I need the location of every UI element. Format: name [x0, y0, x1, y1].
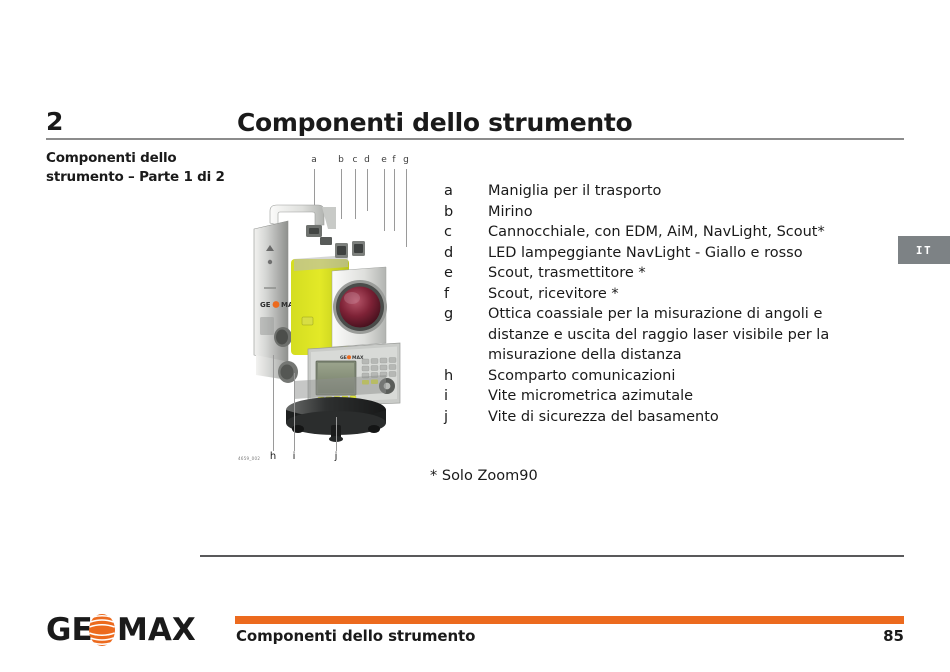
page-title: Componenti dello strumento	[237, 108, 632, 137]
callout-labels-bottom: h i j	[236, 451, 416, 465]
callout-label-g: g	[403, 155, 409, 165]
legend-text-f: Scout, ricevitore *	[488, 284, 874, 305]
legend-item-j: j Vite di sicurezza del basamento	[444, 407, 874, 428]
leader-line-h	[273, 355, 274, 451]
legend-item-b: b Mirino	[444, 202, 874, 223]
instrument-figure: a b c d e f g	[236, 155, 416, 470]
callout-labels-top: a b c d e f g	[236, 155, 416, 167]
logo-text-left: GE	[46, 612, 93, 648]
legend-key-c: c	[444, 222, 488, 243]
legend-text-i: Vite micrometrica azimutale	[488, 386, 874, 407]
callout-label-e: e	[381, 155, 387, 165]
svg-text:GE: GE	[260, 301, 271, 309]
legend-key-i: i	[444, 386, 488, 407]
legend-key-g: g	[444, 304, 488, 325]
callout-label-h: h	[270, 451, 276, 462]
legend-key-f: f	[444, 284, 488, 305]
legend-key-j: j	[444, 407, 488, 428]
content-divider	[200, 555, 904, 557]
legend-key-a: a	[444, 181, 488, 202]
callout-label-f: f	[392, 155, 395, 165]
legend-text-c: Cannocchiale, con EDM, AiM, NavLight, Sc…	[488, 222, 874, 243]
geomax-logo: GE MAX	[46, 610, 218, 650]
total-station-image: GE MAX GE	[236, 167, 416, 450]
legend-text-a: Maniglia per il trasporto	[488, 181, 874, 202]
legend-key-e: e	[444, 263, 488, 284]
leader-line-j	[336, 417, 337, 451]
language-tab-label: IT	[916, 244, 932, 257]
language-tab-it: IT	[898, 236, 950, 264]
legend-item-c: c Cannocchiale, con EDM, AiM, NavLight, …	[444, 222, 874, 243]
legend-item-h: h Scomparto comunicazioni	[444, 366, 874, 387]
callout-label-i: i	[293, 451, 296, 462]
legend-list: a Maniglia per il trasporto b Mirino c C…	[444, 181, 874, 427]
logo-text-right: MAX	[117, 612, 196, 648]
footer-accent-bar	[235, 616, 904, 624]
leader-line-i	[294, 373, 295, 451]
page-number: 85	[866, 627, 904, 645]
svg-text:GE: GE	[340, 355, 347, 361]
callout-label-a: a	[311, 155, 317, 165]
legend-text-j: Vite di sicurezza del basamento	[488, 407, 874, 428]
legend-item-i: i Vite micrometrica azimutale	[444, 386, 874, 407]
legend-key-h: h	[444, 366, 488, 387]
callout-label-c: c	[353, 155, 358, 165]
legend-item-g: g Ottica coassiale per la misurazione di…	[444, 304, 874, 366]
callout-label-b: b	[338, 155, 344, 165]
globe-icon	[89, 614, 115, 646]
legend-item-a: a Maniglia per il trasporto	[444, 181, 874, 202]
header-divider	[46, 138, 904, 140]
section-heading: Componenti dello strumento – Parte 1 di …	[46, 149, 231, 187]
figure-id-code: 4659_002	[238, 456, 260, 461]
footer-title: Componenti dello strumento	[236, 627, 475, 645]
legend-text-h: Scomparto comunicazioni	[488, 366, 874, 387]
legend-key-d: d	[444, 243, 488, 264]
callout-label-d: d	[364, 155, 370, 165]
legend-item-d: d LED lampeggiante NavLight - Giallo e r…	[444, 243, 874, 264]
legend-text-g: Ottica coassiale per la misurazione di a…	[488, 304, 874, 366]
callout-label-j: j	[335, 451, 338, 462]
legend-text-d: LED lampeggiante NavLight - Giallo e ros…	[488, 243, 874, 264]
legend-text-e: Scout, trasmettitore *	[488, 263, 874, 284]
legend-footnote: * Solo Zoom90	[430, 468, 538, 484]
chapter-number: 2	[46, 107, 63, 136]
legend-text-b: Mirino	[488, 202, 874, 223]
legend-key-b: b	[444, 202, 488, 223]
legend-item-e: e Scout, trasmettitore *	[444, 263, 874, 284]
legend-item-f: f Scout, ricevitore *	[444, 284, 874, 305]
